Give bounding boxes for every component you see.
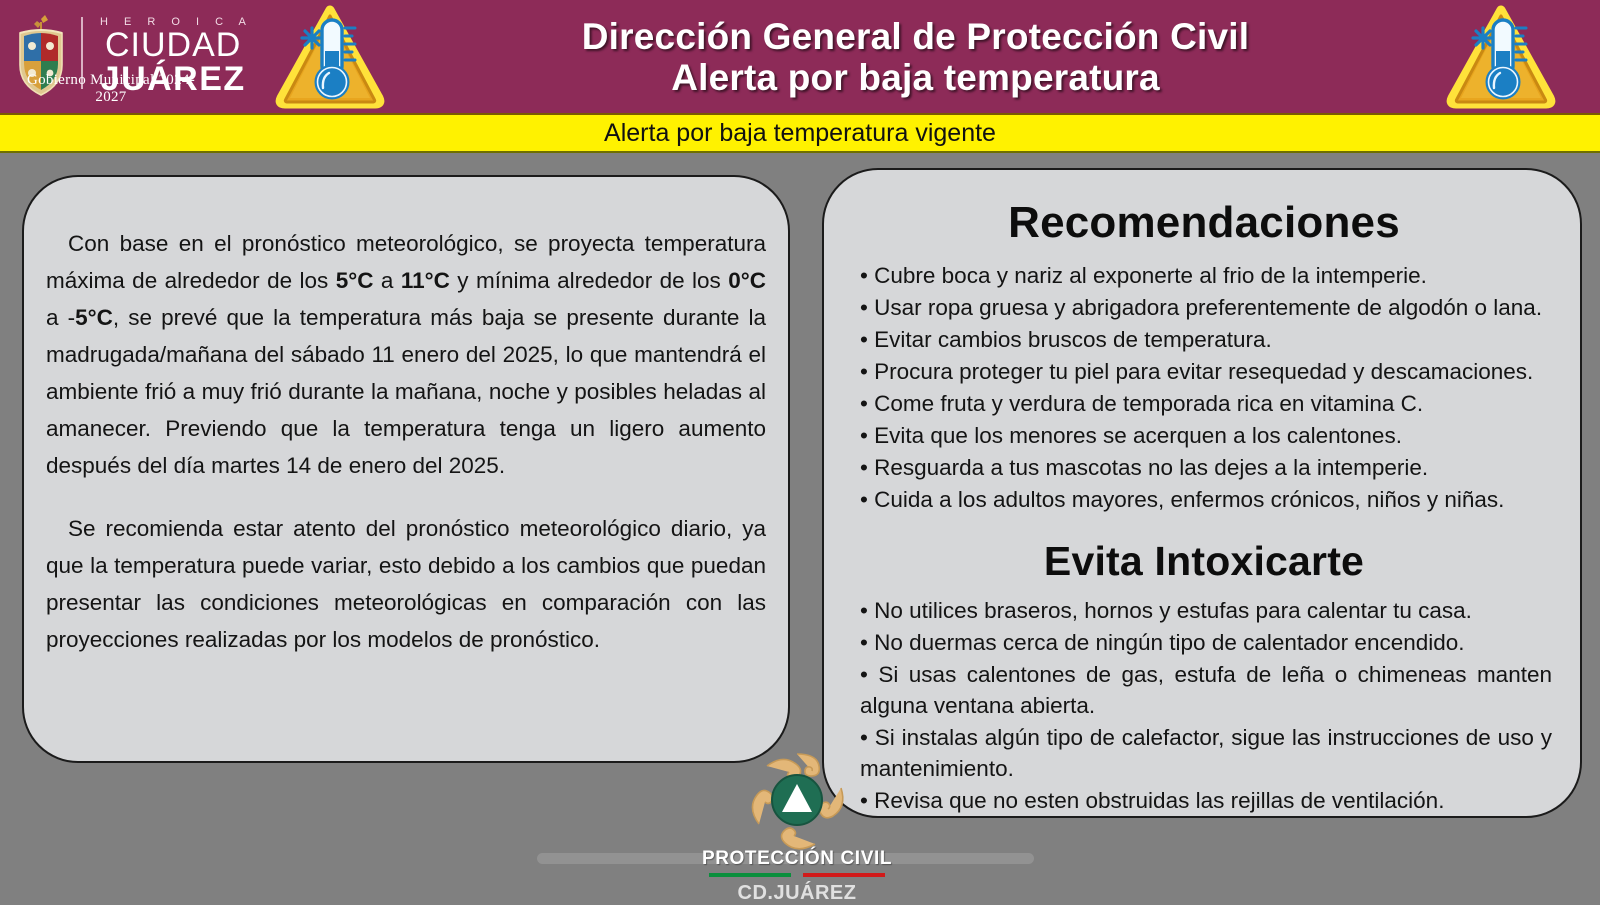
- list-item: • Procura proteger tu piel para evitar r…: [860, 356, 1552, 387]
- mexican-flag-rule: [709, 873, 885, 877]
- list-item: • Evita que los menores se acerquen a lo…: [860, 420, 1552, 451]
- brand-gobierno: Gobierno Municipal 2024-2027: [16, 72, 206, 106]
- recomendaciones-title: Recomendaciones: [842, 198, 1566, 248]
- list-item: • Resguarda a tus mascotas no las dejes …: [860, 452, 1552, 483]
- list-item: • No utilices braseros, hornos y estufas…: [860, 595, 1552, 626]
- forecast-paragraph-1: Con base en el pronóstico meteorológico,…: [46, 225, 766, 484]
- recomendaciones-list: • Cubre boca y nariz al exponerte al fri…: [842, 260, 1566, 515]
- proteccion-civil-city: CD.JUÁREZ: [697, 882, 897, 905]
- proteccion-civil-logo: PROTECCIÓN CIVIL CD.JUÁREZ: [697, 748, 897, 898]
- list-item: • Evitar cambios bruscos de temperatura.: [860, 324, 1552, 355]
- list-item: • Revisa que no esten obstruidas las rej…: [860, 785, 1552, 816]
- list-item: • Usar ropa gruesa y abrigadora preferen…: [860, 292, 1552, 323]
- temp-max-low: 5°C: [336, 268, 374, 293]
- forecast-p1-part4: a -: [46, 305, 75, 330]
- page-title-line1: Dirección General de Protección Civil: [389, 16, 1442, 57]
- list-item: • Si usas calentones de gas, estufa de l…: [860, 659, 1552, 721]
- recommendations-panel: Recomendaciones • Cubre boca y nariz al …: [822, 168, 1582, 818]
- forecast-p1-part3: y mínima alrededor de los: [450, 268, 728, 293]
- list-item: • Cuida a los adultos mayores, enfermos …: [860, 484, 1552, 515]
- temp-min-high: 0°C: [728, 268, 766, 293]
- page-title-line2: Alerta por baja temperatura: [389, 57, 1442, 98]
- brand-logo: H E R O I C A CIUDAD JUÁREZ Gobierno Mun…: [0, 0, 265, 113]
- recommendations-content: Recomendaciones • Cubre boca y nariz al …: [842, 182, 1566, 817]
- forecast-p1-part5: , se prevé que la temperatura más baja s…: [46, 305, 766, 478]
- list-item: • Cubre boca y nariz al exponerte al fri…: [860, 260, 1552, 291]
- proteccion-civil-name: PROTECCIÓN CIVIL: [697, 848, 897, 870]
- list-item: • Come fruta y verdura de temporada rica…: [860, 388, 1552, 419]
- evita-intoxicarte-list: • No utilices braseros, hornos y estufas…: [842, 595, 1566, 816]
- flag-red-stripe: [803, 873, 885, 877]
- flag-white-stripe: [791, 873, 803, 877]
- evita-intoxicarte-title: Evita Intoxicarte: [842, 537, 1566, 585]
- temp-min-low: 5°C: [75, 305, 113, 330]
- list-item: • Si instalas algún tipo de calefactor, …: [860, 722, 1552, 784]
- page-header: H E R O I C A CIUDAD JUÁREZ Gobierno Mun…: [0, 0, 1600, 113]
- forecast-paragraph-2: Se recomienda estar atento del pronóstic…: [46, 510, 766, 658]
- cold-temperature-warning-icon: [275, 4, 385, 109]
- list-item: • No duermas cerca de ningún tipo de cal…: [860, 627, 1552, 658]
- cold-temperature-warning-icon: [1446, 4, 1556, 109]
- proteccion-civil-emblem-icon: [745, 748, 849, 852]
- forecast-panel: Con base en el pronóstico meteorológico,…: [22, 175, 790, 763]
- page-title: Dirección General de Protección Civil Al…: [385, 16, 1446, 98]
- temp-max-high: 11°C: [401, 268, 450, 293]
- forecast-p1-part2: a: [373, 268, 400, 293]
- brand-ciudad: CIUDAD: [105, 29, 241, 62]
- alert-status-banner: Alerta por baja temperatura vigente: [0, 113, 1600, 153]
- flag-green-stripe: [709, 873, 791, 877]
- forecast-text: Con base en el pronóstico meteorológico,…: [46, 225, 766, 658]
- alert-status-text: Alerta por baja temperatura vigente: [604, 119, 996, 148]
